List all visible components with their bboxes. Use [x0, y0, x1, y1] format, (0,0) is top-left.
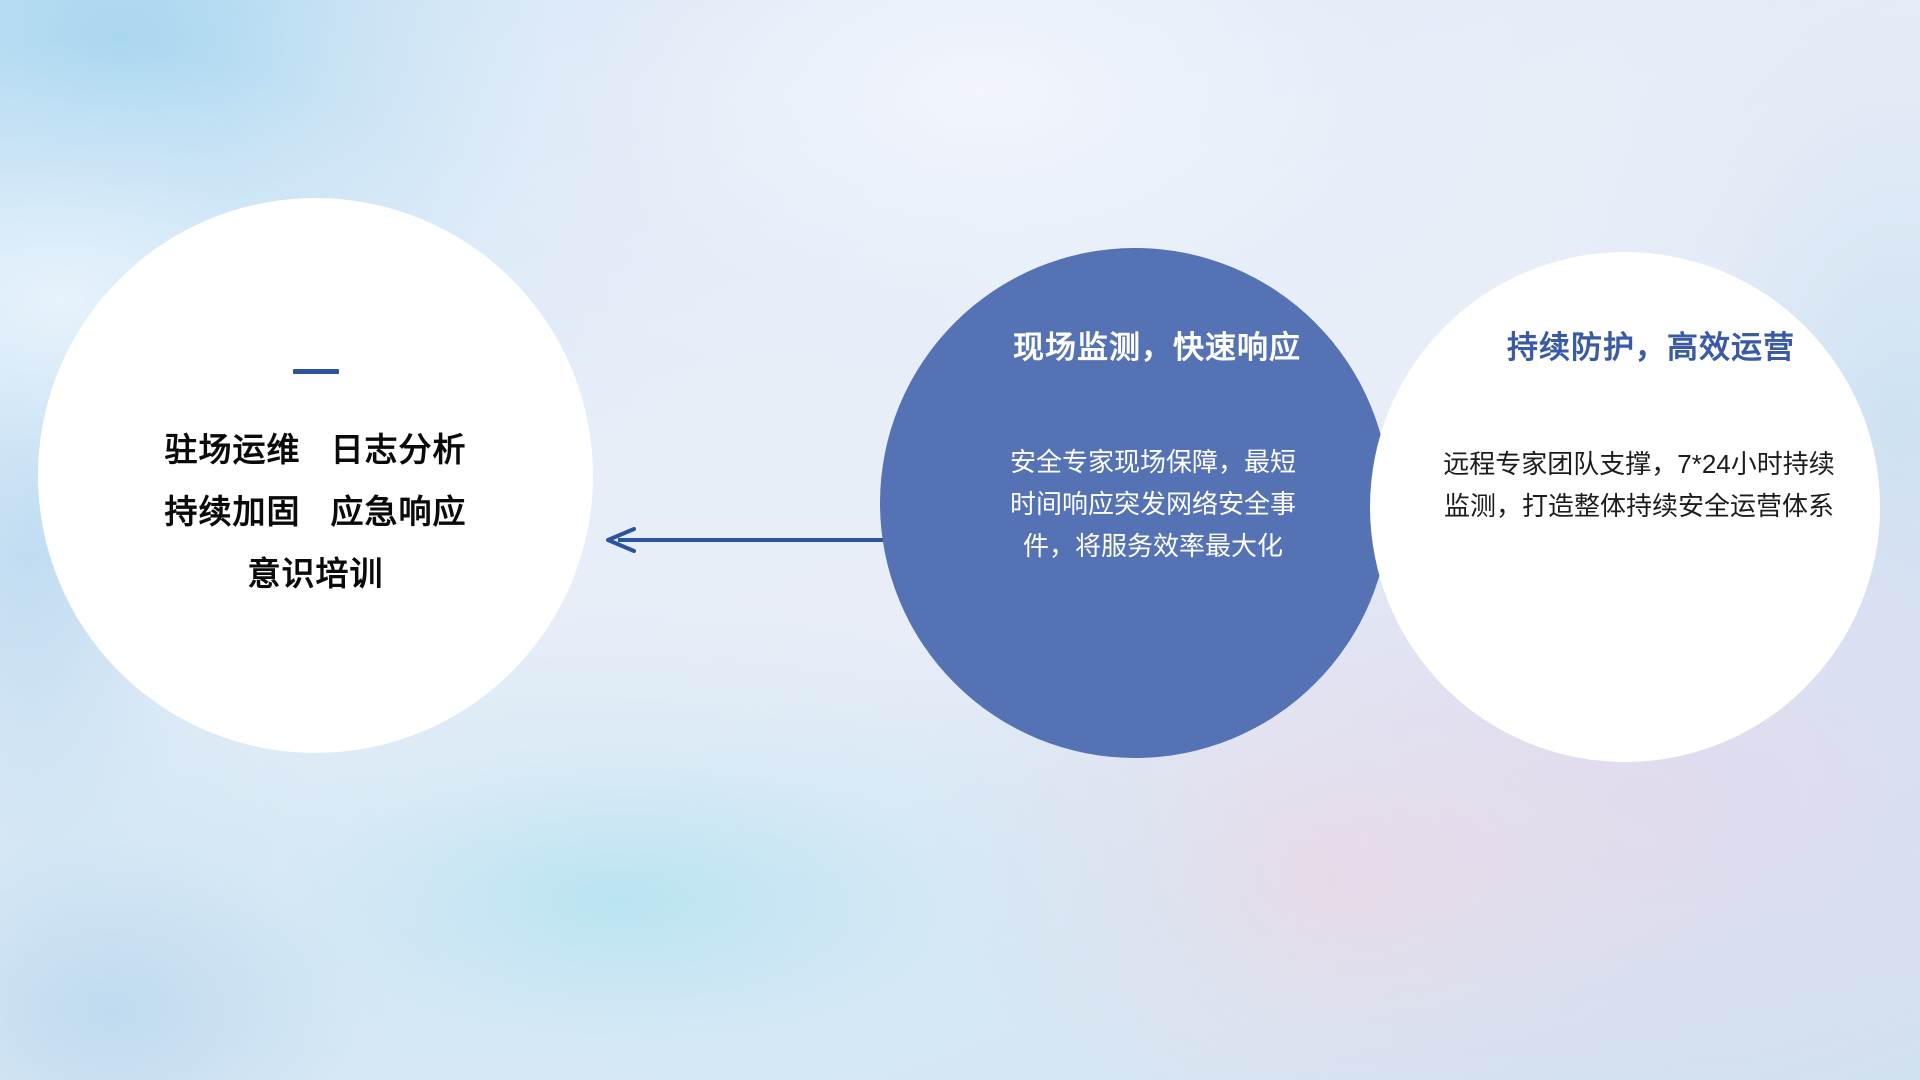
arrow-left-icon [600, 527, 900, 553]
capability-item: 日志分析 [331, 431, 467, 468]
left-capability-circle: 驻场运维日志分析 持续加固应急响应 意识培训 [38, 198, 593, 753]
capability-item: 意识培训 [248, 555, 384, 592]
right-circle-content: 持续防护，高效运营 远程专家团队支撑，7*24小时持续监测，打造整体持续安全运营… [1370, 252, 1880, 762]
capability-item: 驻场运维 [165, 431, 301, 468]
capability-row: 意识培训 [248, 556, 384, 592]
capability-item: 持续加固 [165, 493, 301, 530]
onsite-monitoring-circle: 现场监测，快速响应 安全专家现场保障，最短时间响应突发网络安全事件，将服务效率最… [880, 248, 1390, 758]
divider-rule [293, 369, 339, 374]
capability-row: 驻场运维日志分析 [165, 432, 467, 468]
capability-row: 持续加固应急响应 [165, 494, 467, 530]
right-circle-title: 持续防护，高效运营 [1507, 322, 1795, 367]
connector-arrow [600, 527, 900, 553]
continuous-protection-circle: 持续防护，高效运营 远程专家团队支撑，7*24小时持续监测，打造整体持续安全运营… [1370, 252, 1880, 762]
right-circle-body: 远程专家团队支撑，7*24小时持续监测，打造整体持续安全运营体系 [1439, 443, 1839, 527]
mid-circle-body: 安全专家现场保障，最短时间响应突发网络安全事件，将服务效率最大化 [1003, 441, 1303, 567]
mid-circle-content: 现场监测，快速响应 安全专家现场保障，最短时间响应突发网络安全事件，将服务效率最… [880, 248, 1390, 758]
capability-item: 应急响应 [331, 493, 467, 530]
left-circle-content: 驻场运维日志分析 持续加固应急响应 意识培训 [38, 198, 593, 753]
capability-list: 驻场运维日志分析 持续加固应急响应 意识培训 [165, 432, 467, 593]
mid-circle-title: 现场监测，快速响应 [1013, 322, 1301, 367]
slide-canvas: 驻场运维日志分析 持续加固应急响应 意识培训 现场监测，快速响应 安全专家现场保… [0, 0, 1920, 1080]
